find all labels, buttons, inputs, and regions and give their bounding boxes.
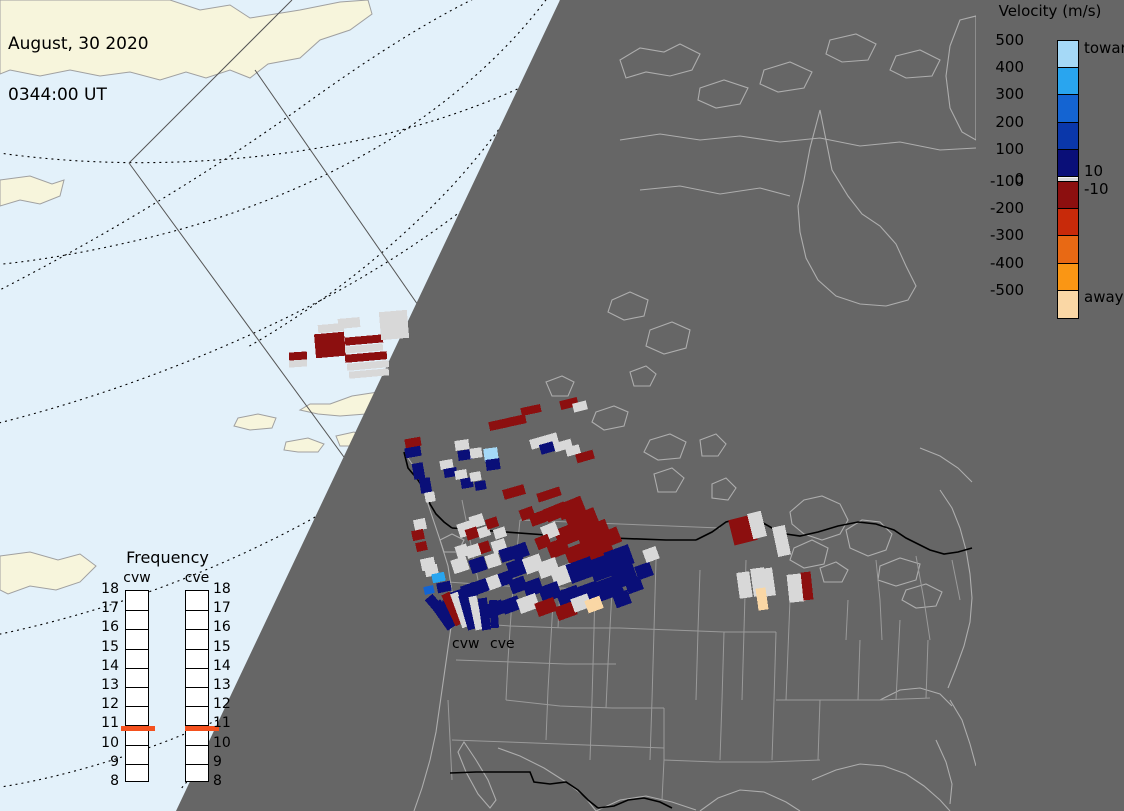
velocity-cell	[450, 556, 470, 574]
colorbar-band	[1058, 68, 1078, 95]
velocity-cell	[412, 462, 426, 480]
velocity-cell	[534, 597, 558, 617]
frequency-column-label: cvw	[117, 570, 157, 586]
colorbar-title: Velocity (m/s)	[976, 2, 1124, 20]
colorbar-tick-label: -100	[990, 176, 1024, 186]
frequency-gridline	[126, 629, 148, 630]
colorbar-tick-label: 200	[995, 117, 1024, 127]
frequency-tick-label-cvw: 18	[95, 584, 119, 594]
frequency-legend-title: Frequency	[95, 548, 240, 567]
frequency-gridline	[186, 745, 208, 746]
frequency-tick-label-cvw: 15	[95, 642, 119, 652]
velocity-cell	[454, 543, 469, 558]
colorbar-band	[1058, 150, 1078, 177]
colorbar-tick-label: -300	[990, 230, 1024, 240]
frequency-column-label: cve	[177, 570, 217, 586]
frequency-tick-label-cve: 12	[213, 699, 237, 709]
radar-site-label-cve: cve	[490, 636, 515, 652]
velocity-cell	[469, 471, 481, 482]
frequency-gridline	[126, 649, 148, 650]
superdarn-fan-plot: cvwcve August, 30 2020 0344:00 UT Freque…	[0, 0, 1124, 811]
frequency-tick-label-cve: 14	[213, 661, 237, 671]
date-label: August, 30 2020	[8, 36, 149, 53]
velocity-cell	[507, 414, 526, 427]
frequency-tick-label-cvw: 8	[95, 776, 119, 786]
colorbar-band	[1058, 236, 1078, 263]
colorbar-strip[interactable]	[1057, 40, 1079, 319]
colorbar-away-label: away	[1084, 292, 1124, 302]
frequency-tick-label-cve: 9	[213, 757, 237, 767]
frequency-tick-label-cve: 18	[213, 584, 237, 594]
velocity-cell	[423, 585, 434, 595]
frequency-tick-label-cvw: 17	[95, 603, 119, 613]
colorbar-band	[1058, 41, 1078, 68]
velocity-cell	[642, 546, 660, 563]
colorbar-tick-label: 100	[995, 144, 1024, 154]
velocity-cell	[469, 447, 482, 459]
frequency-gridline	[126, 764, 148, 765]
time-label: 0344:00 UT	[8, 87, 149, 104]
frequency-gridline	[186, 629, 208, 630]
frequency-gridline	[186, 668, 208, 669]
frequency-marker	[121, 726, 155, 731]
frequency-tick-label-cvw: 11	[95, 718, 119, 728]
frequency-bar[interactable]	[185, 590, 209, 782]
velocity-cell	[772, 525, 791, 557]
velocity-cell	[424, 491, 436, 503]
frequency-gridline	[126, 745, 148, 746]
frequency-tick-label-cve: 13	[213, 680, 237, 690]
timestamp: August, 30 2020 0344:00 UT	[8, 2, 149, 138]
velocity-cell	[520, 404, 541, 416]
colorbar-tick-label: -500	[990, 285, 1024, 295]
frequency-bar[interactable]	[125, 590, 149, 782]
colorbar-plus-ten-label: 10	[1084, 166, 1103, 176]
colorbar-band	[1058, 182, 1078, 209]
frequency-tick-label-cve: 15	[213, 642, 237, 652]
colorbar-toward-label: toward	[1084, 43, 1124, 53]
frequency-tick-label-cvw: 10	[95, 738, 119, 748]
colorbar-tick-label: -200	[990, 203, 1024, 213]
colorbar-tick-label: -400	[990, 258, 1024, 268]
frequency-tick-label-cvw: 16	[95, 622, 119, 632]
velocity-cell	[484, 552, 501, 569]
frequency-tick-label-cve: 8	[213, 776, 237, 786]
velocity-cell	[379, 310, 409, 340]
frequency-tick-label-cvw: 14	[95, 661, 119, 671]
velocity-cell	[314, 332, 346, 359]
velocity-cell	[536, 487, 562, 503]
velocity-cell	[485, 458, 500, 471]
velocity-cell	[411, 529, 425, 541]
colorbar-minus-ten-label: -10	[1084, 184, 1109, 194]
velocity-cell	[454, 439, 469, 451]
velocity-cell	[736, 571, 752, 599]
colorbar-band	[1058, 291, 1078, 318]
frequency-gridline	[186, 610, 208, 611]
frequency-tick-label-cvw: 12	[95, 699, 119, 709]
velocity-cell	[289, 351, 308, 360]
frequency-tick-label-cvw: 9	[95, 757, 119, 767]
frequency-tick-label-cve: 10	[213, 738, 237, 748]
colorbar-panel: Velocity (m/s) 5004003002001000-100-200-…	[976, 0, 1124, 811]
velocity-cell	[419, 477, 432, 494]
velocity-cell	[474, 480, 486, 491]
frequency-gridline	[186, 706, 208, 707]
frequency-tick-label-cvw: 13	[95, 680, 119, 690]
frequency-tick-label-cve: 16	[213, 622, 237, 632]
radar-site-label-cvw: cvw	[452, 636, 479, 652]
velocity-cell	[413, 518, 427, 531]
velocity-cell	[502, 484, 526, 500]
colorbar-band	[1058, 264, 1078, 291]
colorbar-tick-label: 500	[995, 35, 1024, 45]
colorbar-tick-label: 300	[995, 89, 1024, 99]
frequency-gridline	[126, 668, 148, 669]
frequency-legend: Frequency cvwcve 18181717161615151414131…	[95, 548, 240, 798]
frequency-gridline	[126, 706, 148, 707]
colorbar-tick-label: 400	[995, 62, 1024, 72]
frequency-tick-label-cve: 17	[213, 603, 237, 613]
velocity-cell	[415, 541, 428, 552]
frequency-gridline	[186, 649, 208, 650]
colorbar-band	[1058, 209, 1078, 236]
velocity-cell	[338, 317, 361, 329]
frequency-gridline	[126, 610, 148, 611]
velocity-cell	[493, 526, 508, 539]
frequency-gridline	[186, 687, 208, 688]
colorbar-band	[1058, 123, 1078, 150]
frequency-gridline	[126, 687, 148, 688]
velocity-cell	[488, 418, 509, 431]
velocity-cell	[436, 581, 452, 594]
frequency-tick-label-cve: 11	[213, 718, 237, 728]
velocity-cell	[289, 359, 307, 367]
frequency-gridline	[186, 764, 208, 765]
velocity-cell	[468, 556, 488, 574]
colorbar-band	[1058, 95, 1078, 122]
